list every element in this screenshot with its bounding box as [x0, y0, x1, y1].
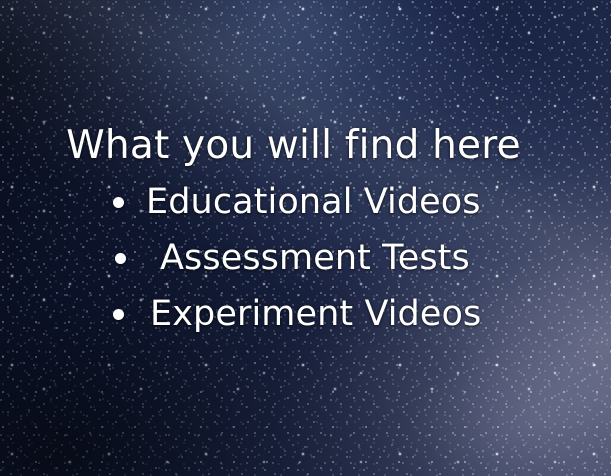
bullet-point-icon: [113, 309, 124, 320]
bullet-list: Educational Videos Assessment Tests Expe…: [0, 182, 611, 350]
slide-title: What you will find here: [0, 126, 599, 165]
bullet-point-icon: [113, 197, 124, 208]
slide-content: What you will find here Educational Vide…: [0, 0, 611, 476]
bullet-list-item-label: Assessment Tests: [160, 238, 470, 278]
presentation-slide: What you will find here Educational Vide…: [0, 0, 611, 476]
bullet-list-item: Educational Videos: [0, 182, 611, 238]
bullet-list-item-label: Experiment Videos: [150, 294, 481, 334]
bullet-point-icon: [115, 253, 126, 264]
bullet-list-item: Experiment Videos: [0, 294, 611, 350]
bullet-list-item: Assessment Tests: [0, 238, 611, 294]
bullet-list-item-label: Educational Videos: [146, 182, 481, 222]
